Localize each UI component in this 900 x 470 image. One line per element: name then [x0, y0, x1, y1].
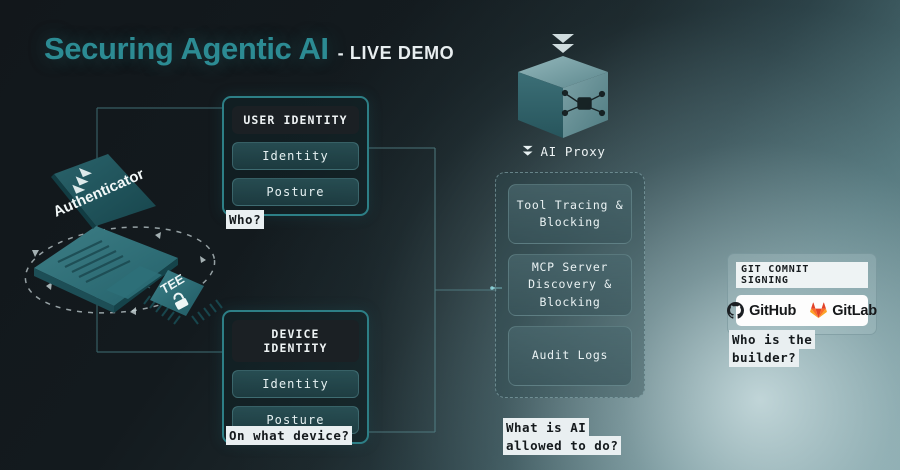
card-user-row-identity[interactable]: Identity [232, 142, 359, 170]
card-user-identity[interactable]: USER IDENTITY Identity Posture [222, 96, 369, 216]
git-card-title: GIT COMNIT SIGNING [736, 262, 868, 288]
card-device-header: DEVICE IDENTITY [232, 320, 359, 362]
git-providers: GitHub GitLab [736, 295, 868, 326]
slide-canvas: Securing Agentic AI - LIVE DEMO [0, 0, 900, 470]
provider-github[interactable]: GitHub [727, 302, 796, 319]
provider-gitlab[interactable]: GitLab [810, 302, 877, 319]
ai-proxy-label: AI Proxy [504, 144, 624, 159]
title-main: Securing Agentic AI [44, 31, 329, 67]
caption-what-is-ai-allowed-to-do: What is AIallowed to do? [505, 419, 619, 455]
card-device-row-identity[interactable]: Identity [232, 370, 359, 398]
page-title: Securing Agentic AI - LIVE DEMO [44, 31, 454, 67]
card-user-row-posture[interactable]: Posture [232, 178, 359, 206]
provider-github-label: GitHub [749, 303, 796, 319]
proxy-box-tool-tracing[interactable]: Tool Tracing & Blocking [508, 184, 632, 244]
provider-gitlab-label: GitLab [832, 303, 877, 319]
github-icon [727, 302, 744, 319]
ai-proxy-label-text: AI Proxy [540, 144, 605, 159]
proxy-box-mcp-discovery[interactable]: MCP Server Discovery & Blocking [508, 254, 632, 316]
card-user-header: USER IDENTITY [232, 106, 359, 134]
caption-who-is-the-builder: Who is thebuilder? [731, 331, 813, 367]
caption-who: Who? [228, 211, 262, 229]
ai-proxy-panel[interactable]: Tool Tracing & Blocking MCP Server Disco… [495, 172, 645, 398]
ai-proxy-cube-icon [504, 28, 622, 148]
git-commit-signing-card[interactable]: GIT COMNIT SIGNING GitHub GitLab [727, 253, 877, 335]
card-device-identity[interactable]: DEVICE IDENTITY Identity Posture [222, 310, 369, 444]
laptop-illustration: Authenticator TEE [10, 140, 235, 325]
title-suffix: - LIVE DEMO [338, 43, 455, 64]
gitlab-icon [810, 302, 827, 319]
proxy-box-audit-logs[interactable]: Audit Logs [508, 326, 632, 386]
caption-on-what-device: On what device? [228, 427, 350, 445]
chevron-stack-icon [522, 145, 535, 158]
